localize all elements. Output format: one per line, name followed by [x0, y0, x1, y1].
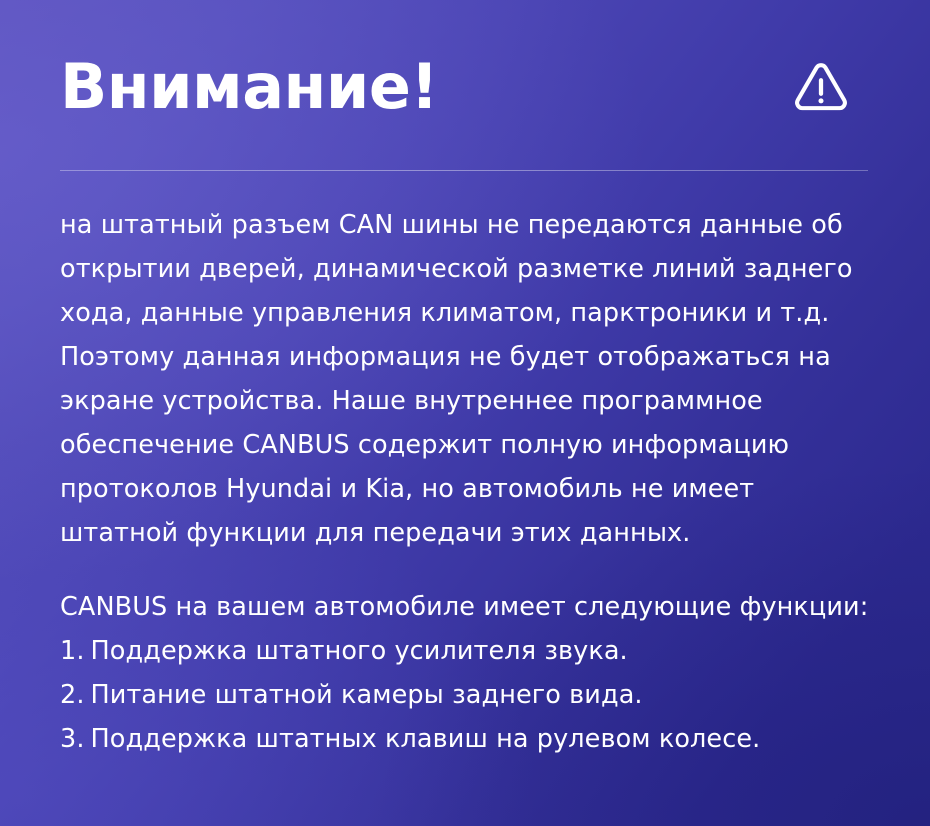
list-item: 1.Поддержка штатного усилителя звука. — [60, 629, 870, 673]
list-item-number: 3. — [60, 724, 85, 754]
list-item: 2.Питание штатной камеры заднего вида. — [60, 673, 870, 717]
list-item-label: Питание штатной камеры заднего вида. — [91, 680, 643, 710]
notice-body: на штатный разъем CAN шины не передаются… — [60, 171, 870, 555]
notice-paragraph: на штатный разъем CAN шины не передаются… — [60, 203, 870, 555]
features-list: 1.Поддержка штатного усилителя звука. 2.… — [60, 629, 870, 761]
features-section: CANBUS на вашем автомобиле имеет следующ… — [60, 555, 870, 761]
page-title: Внимание! — [60, 56, 438, 118]
features-intro: CANBUS на вашем автомобиле имеет следующ… — [60, 585, 870, 629]
warning-triangle-icon — [790, 56, 870, 118]
poster-content: Внимание! на штатный разъем CAN шины не … — [0, 0, 930, 761]
list-item-label: Поддержка штатных клавиш на рулевом коле… — [91, 724, 761, 754]
list-item-number: 2. — [60, 680, 85, 710]
list-item-label: Поддержка штатного усилителя звука. — [91, 636, 628, 666]
poster-header: Внимание! — [60, 0, 870, 170]
warning-notice-poster: Внимание! на штатный разъем CAN шины не … — [0, 0, 930, 826]
list-item: 3.Поддержка штатных клавиш на рулевом ко… — [60, 717, 870, 761]
list-item-number: 1. — [60, 636, 85, 666]
